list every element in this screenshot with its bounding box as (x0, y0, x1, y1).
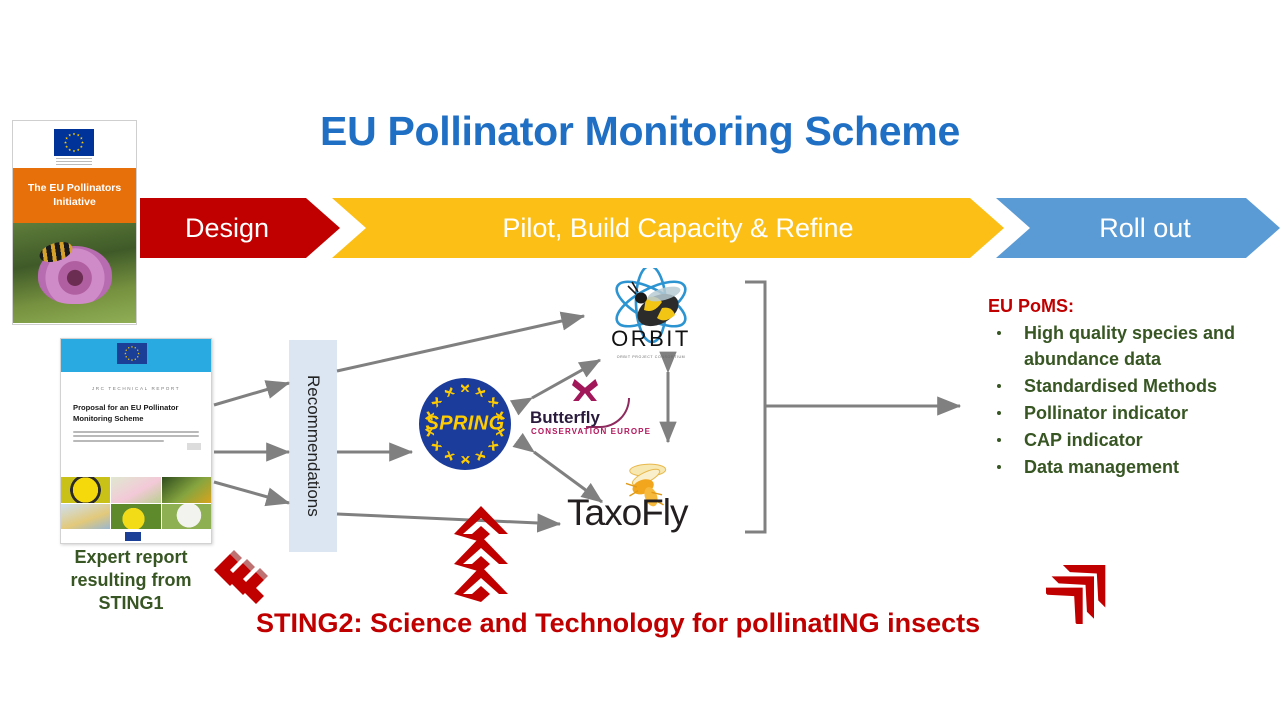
chevron-group-left (208, 540, 288, 620)
butterfly-glyph (475, 386, 487, 397)
spring-project-logo[interactable]: SPRING (419, 378, 511, 470)
butterfly-glyph (461, 456, 470, 464)
caption-line-3: STING1 (98, 593, 163, 613)
butterfly-glyph (444, 386, 456, 397)
list-item: CAP indicator (988, 427, 1276, 453)
list-item: High quality species and abundance data (988, 320, 1276, 372)
bce-wordmark: Butterfly (530, 408, 600, 428)
butterfly-conservation-europe-logo[interactable]: Butterfly CONSERVATION EUROPE (530, 378, 658, 442)
butterfly-glyph (461, 384, 470, 392)
eu-poms-outcomes: EU PoMS: High quality species and abunda… (988, 296, 1276, 482)
butterfly-glyph (487, 440, 499, 452)
chevron-group-mid (444, 492, 518, 610)
butterfly-glyph (431, 396, 443, 408)
sting2-caption: STING2: Science and Technology for polli… (256, 608, 980, 639)
taxofly-project-logo[interactable]: TaxoFly (567, 458, 715, 538)
butterfly-glyph (444, 451, 456, 462)
orbit-wordmark: ORBIT (586, 326, 716, 352)
spring-wordmark: SPRING (419, 413, 511, 436)
slide-canvas: EU Pollinator Monitoring Scheme Design P… (0, 0, 1280, 720)
expert-report-caption: Expert report resulting from STING1 (42, 546, 220, 615)
chevron-group-right (1046, 540, 1142, 624)
taxofly-wordmark: TaxoFly (567, 492, 687, 534)
orbit-tagline: ORBIT PROJECT CONSORTIUM (586, 355, 716, 359)
orbit-project-logo[interactable]: ORBIT ORBIT PROJECT CONSORTIUM (586, 268, 716, 360)
list-item: Data management (988, 454, 1276, 480)
outcomes-list: High quality species and abundance data … (988, 320, 1276, 481)
list-item: Pollinator indicator (988, 400, 1276, 426)
list-item: Standardised Methods (988, 373, 1276, 399)
taxofly-word-left: Tax (567, 492, 622, 533)
outcomes-heading: EU PoMS: (988, 296, 1276, 317)
butterfly-glyph (487, 396, 499, 408)
bce-subtitle: CONSERVATION EUROPE (531, 427, 651, 436)
butterfly-glyph (431, 440, 443, 452)
taxofly-word-right: Fly (641, 492, 687, 533)
caption-line-1: Expert report (74, 547, 187, 567)
butterfly-glyph (475, 451, 487, 462)
caption-line-2: resulting from (70, 570, 191, 590)
